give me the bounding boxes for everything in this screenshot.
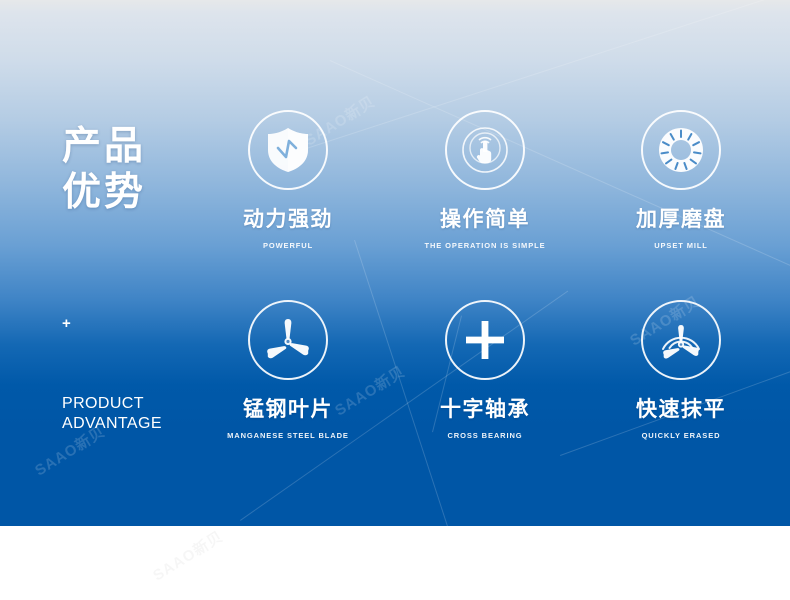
subtitle-english: PRODUCT ADVANTAGE	[62, 394, 162, 434]
spinning-propeller-icon	[641, 300, 721, 380]
subtitle-line-2: ADVANTAGE	[62, 414, 162, 434]
feature-title: 锰钢叶片	[198, 398, 378, 422]
feature-item-upset-mill[interactable]: 加厚磨盘 UPSET MILL	[591, 110, 771, 251]
subtitle-line-1: PRODUCT	[62, 394, 162, 414]
feature-subtitle: QUICKLY ERASED	[591, 431, 771, 441]
touch-hand-icon	[445, 110, 525, 190]
feature-title: 动力强劲	[198, 208, 378, 232]
feature-title: 快速抹平	[591, 398, 771, 422]
watermark: SAAO新贝	[148, 526, 226, 586]
gradient-background: SAAO新贝 SAAO新贝 SAAO新贝 SAAO新贝 产品 优势 + PROD…	[0, 0, 790, 526]
feature-subtitle: CROSS BEARING	[395, 431, 575, 441]
feature-item-powerful[interactable]: 动力强劲 POWERFUL	[198, 110, 378, 251]
plus-marker: +	[62, 316, 71, 331]
feature-subtitle: POWERFUL	[198, 241, 378, 251]
feature-subtitle: UPSET MILL	[591, 241, 771, 251]
shield-check-icon	[248, 110, 328, 190]
product-advantage-banner: SAAO新贝 SAAO新贝 SAAO新贝 SAAO新贝 产品 优势 + PROD…	[0, 0, 790, 600]
feature-subtitle: THE OPERATION IS SIMPLE	[395, 241, 575, 251]
grinding-disc-icon	[641, 110, 721, 190]
feature-item-simple-operation[interactable]: 操作简单 THE OPERATION IS SIMPLE	[395, 110, 575, 251]
feature-title: 操作简单	[395, 208, 575, 232]
feature-item-quickly-erased[interactable]: 快速抹平 QUICKLY ERASED	[591, 300, 771, 441]
cross-plus-icon	[445, 300, 525, 380]
feature-subtitle: MANGANESE STEEL BLADE	[198, 431, 378, 441]
feature-item-cross-bearing[interactable]: 十字轴承 CROSS BEARING	[395, 300, 575, 441]
feature-title: 十字轴承	[395, 398, 575, 422]
feature-item-steel-blade[interactable]: 锰钢叶片 MANGANESE STEEL BLADE	[198, 300, 378, 441]
propeller-blade-icon	[248, 300, 328, 380]
feature-title: 加厚磨盘	[591, 208, 771, 232]
